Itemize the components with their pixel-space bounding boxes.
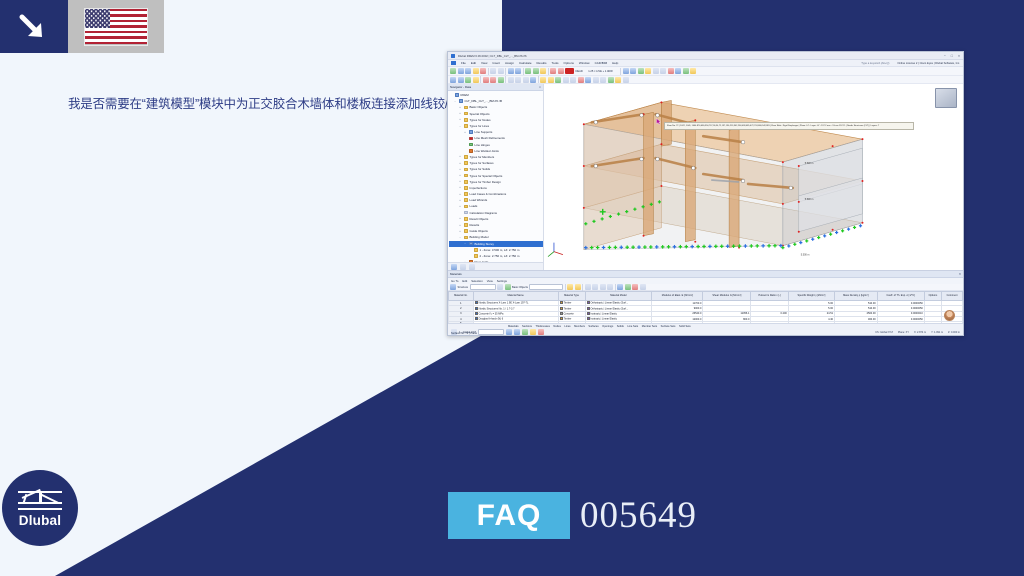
- surface-tool-icon[interactable]: [473, 77, 479, 83]
- menu-help[interactable]: Help: [612, 61, 618, 65]
- grid-icon[interactable]: [515, 68, 521, 74]
- panel-close-icon[interactable]: ✕: [539, 86, 541, 89]
- materials-column-header: Shear Modulus G [N/mm²]: [703, 292, 751, 301]
- building-tool-icon[interactable]: [585, 77, 591, 83]
- table-view-1-icon[interactable]: [585, 284, 591, 290]
- solid-tool-icon[interactable]: [578, 77, 584, 83]
- rotate-tool-icon[interactable]: [523, 77, 529, 83]
- tree-item-label: 2 - Zone: 2.750 m, LZ: 2.750 m: [480, 254, 520, 258]
- line-tool-icon[interactable]: [458, 77, 464, 83]
- menu-window[interactable]: Window: [579, 61, 590, 65]
- color-swatch: [587, 307, 590, 310]
- hinge-tool-icon[interactable]: [490, 77, 496, 83]
- blue-item-icon: [469, 242, 474, 246]
- materials-menu-edit[interactable]: Edit: [462, 279, 467, 283]
- open-icon[interactable]: [458, 68, 464, 74]
- copy-tool-icon[interactable]: [508, 77, 514, 83]
- tree-item-label: Types for Timber Design: [470, 180, 501, 184]
- folder-icon: [464, 155, 469, 159]
- svg-text:5.500 m: 5.500 m: [805, 162, 814, 165]
- redo-icon[interactable]: [498, 68, 504, 74]
- green-item-icon: [469, 143, 474, 147]
- window-buttons: − □ ×: [944, 54, 960, 58]
- object-tab[interactable]: Lines: [564, 325, 570, 328]
- object-tab[interactable]: Line Sets: [627, 325, 638, 328]
- tree-expander-icon[interactable]: −: [458, 125, 462, 128]
- red-item-icon: [469, 137, 474, 141]
- folder-icon: [464, 205, 469, 209]
- material-tool-icon[interactable]: [555, 77, 561, 83]
- window-title: Dlubal RFEM 6.06.0002 | CLT_DBL_CLT_..._…: [458, 54, 527, 58]
- new-icon[interactable]: [450, 68, 456, 74]
- menu-tools[interactable]: Tools: [552, 61, 559, 65]
- render-icon[interactable]: [525, 68, 531, 74]
- tree-item-label: Line Welded Joints: [475, 149, 499, 153]
- maximize-icon[interactable]: □: [951, 54, 953, 58]
- color-swatch: [587, 317, 590, 320]
- model-3d-view[interactable]: 5.500 m 5.500 m 5.500 m Floor No. 72 | 1…: [544, 84, 963, 270]
- table-view-3-icon[interactable]: [600, 284, 606, 290]
- folder-icon: [464, 236, 469, 240]
- rotate-icon[interactable]: [638, 68, 644, 74]
- array-tool-icon[interactable]: [530, 77, 536, 83]
- object-tab[interactable]: Surface Sets: [661, 325, 676, 328]
- navigator-title: Navigator - Data: [450, 85, 471, 89]
- folder-icon: [464, 198, 469, 202]
- tree-item-label: Building Storey: [475, 242, 494, 246]
- object-tab[interactable]: Member Sets: [642, 325, 657, 328]
- navigator-footer-tabs: [448, 262, 543, 270]
- menu-cadbim[interactable]: CAD/BIM: [595, 61, 608, 65]
- beam-tool-icon[interactable]: [615, 77, 621, 83]
- menu-file[interactable]: File: [461, 61, 466, 65]
- materials-column-header: Modulus of Elast. E [N/mm²]: [652, 292, 703, 301]
- folder-icon: [474, 248, 479, 252]
- folder-icon: [464, 180, 469, 184]
- materials-column-header: Material No.: [449, 292, 474, 301]
- materials-column-header: Material Type: [558, 292, 585, 301]
- materials-table-header: Material No.Material NameMaterial TypeMa…: [449, 292, 963, 301]
- table-export-icon[interactable]: [617, 284, 623, 290]
- object-tab[interactable]: Surfaces: [588, 325, 598, 328]
- guide-toggle-icon[interactable]: [538, 329, 544, 335]
- tree-expander-icon[interactable]: +: [458, 230, 462, 233]
- table-import-icon[interactable]: [625, 284, 631, 290]
- avatar[interactable]: [944, 310, 955, 321]
- tree-expander-icon[interactable]: +: [458, 155, 462, 158]
- tree-expander-icon[interactable]: +: [463, 131, 467, 134]
- title-bar: Dlubal RFEM 6.06.0002 | CLT_DBL_CLT_..._…: [448, 52, 963, 60]
- folder-icon: [464, 174, 469, 178]
- page-title: 我是否需要在“建筑模型”模块中为正交胶合木墙体和楼板连接添加线铰/绞释放?: [68, 95, 438, 113]
- license-status: Online License 2 | Cisco Eyes | Dlubal S…: [897, 62, 960, 65]
- color-swatch: [560, 317, 563, 320]
- tree-expander-icon[interactable]: +: [458, 193, 462, 196]
- tree-item-label: Types for Special Objects: [470, 174, 503, 178]
- color-swatch: [587, 301, 590, 304]
- shade-icon[interactable]: [540, 68, 546, 74]
- layers-icon[interactable]: [675, 68, 681, 74]
- materials-menu-goto[interactable]: Go To: [451, 279, 458, 283]
- object-tab[interactable]: Thicknesses: [535, 325, 549, 328]
- tab-views-icon[interactable]: [469, 264, 475, 270]
- truss-icon: [18, 489, 62, 511]
- toolbar-primary: DEAD 1.25 × LIVE + 1.4DW: [448, 67, 963, 76]
- color-swatch: [475, 301, 478, 304]
- tree-item-label: Types for Members: [470, 155, 495, 159]
- materials-column-header: Poisson's Ratio ν [-]: [751, 292, 788, 301]
- color-swatch: [475, 317, 478, 320]
- tree-expander-icon[interactable]: −: [458, 236, 462, 239]
- status-z: Z: 0.000 m: [948, 331, 960, 334]
- osnap-toggle-icon[interactable]: [530, 329, 536, 335]
- materials-column-header: Mass Density ρ [kg/m³]: [835, 292, 878, 301]
- tree-expander-icon[interactable]: +: [458, 180, 462, 183]
- basic-objects-icon[interactable]: [505, 284, 511, 290]
- tree-item-label: Line Mesh Refinements: [475, 136, 505, 140]
- materials-title: Materials: [450, 272, 462, 276]
- navigator-tree[interactable]: RFEM − CLT_DBL_CLT_..._BM.rf6.rf6 +Basic…: [448, 91, 543, 262]
- tree-item-label: 1 - Zone: 3.500 m, LZ: 2.750 m: [480, 248, 520, 252]
- materials-header: Materials ✕: [448, 271, 963, 278]
- tree-item-label: Types for Lines: [470, 124, 490, 128]
- table-icon[interactable]: [508, 68, 514, 74]
- folder-icon: [464, 223, 469, 227]
- model-tooltip: Floor No. 72 | 1022, 1041, 1064.876,680,…: [664, 122, 914, 130]
- materials-column-header: Material Model: [585, 292, 652, 301]
- status-cs: CS: Global XYZ: [875, 331, 893, 334]
- materials-menu-view[interactable]: View: [487, 279, 493, 283]
- structure-filter-value[interactable]: Structure: [458, 286, 469, 289]
- save-icon[interactable]: [465, 68, 471, 74]
- object-tab[interactable]: Openings: [602, 325, 613, 328]
- tree-item-label: Result Objects: [470, 217, 489, 221]
- folder-icon: [464, 192, 469, 196]
- menu-assign[interactable]: Assign: [505, 61, 514, 65]
- brand-name: Dlubal: [19, 513, 61, 528]
- undo-icon[interactable]: [490, 68, 496, 74]
- faq-badge: FAQ: [448, 492, 570, 539]
- arrow-down-right-icon: [18, 13, 48, 41]
- zoom-icon[interactable]: [623, 68, 629, 74]
- clt-building-model: 5.500 m 5.500 m 5.500 m: [544, 84, 963, 270]
- faq-number: 005649: [580, 492, 697, 539]
- member-tool-icon[interactable]: [465, 77, 471, 83]
- folder-icon: [464, 124, 469, 128]
- navigator-header: Navigator - Data ✕: [448, 84, 543, 91]
- tree-item-label: Load Wizards: [470, 198, 488, 202]
- tree-item-label: Basic Objects: [470, 105, 488, 109]
- load-tool-icon[interactable]: [498, 77, 504, 83]
- tree-expander-icon[interactable]: +: [458, 106, 462, 109]
- export-icon[interactable]: [480, 68, 486, 74]
- menu-options[interactable]: Options: [564, 61, 574, 65]
- materials-menu-selection[interactable]: Selection: [471, 279, 483, 283]
- menu-view[interactable]: View: [481, 61, 487, 65]
- section-tool-icon[interactable]: [548, 77, 554, 83]
- tree-model-label: CLT_DBL_CLT_..._BM.rf6.rf6: [465, 99, 503, 103]
- structure-icon[interactable]: [450, 284, 456, 290]
- tree-expander-icon[interactable]: +: [458, 217, 462, 220]
- status-plane: Plane: XY: [898, 331, 909, 334]
- rfem-application-window: Dlubal RFEM 6.06.0002 | CLT_DBL_CLT_..._…: [447, 51, 964, 336]
- tree-expander-icon[interactable]: +: [458, 112, 462, 115]
- status-selection-text: Surface No. 72 | Plane: [451, 332, 477, 335]
- tree-expander-icon[interactable]: +: [458, 224, 462, 227]
- folder-icon: [464, 168, 469, 172]
- close-icon[interactable]: ×: [958, 54, 960, 58]
- table-view-4-icon[interactable]: [607, 284, 613, 290]
- color-swatch: [475, 312, 478, 315]
- us-flag-icon: [85, 9, 147, 45]
- folder-icon: [464, 217, 469, 221]
- snap-icon[interactable]: [645, 68, 651, 74]
- calculate-icon[interactable]: [550, 68, 556, 74]
- opening-tool-icon[interactable]: [570, 77, 576, 83]
- loadcase-indicator: [565, 68, 574, 74]
- support-tool-icon[interactable]: [483, 77, 489, 83]
- minimize-icon[interactable]: −: [944, 54, 946, 58]
- grey-item-icon: [464, 211, 469, 215]
- menu-bar: File Edit View Insert Assign Calculate R…: [448, 60, 963, 67]
- folder-icon: [464, 161, 469, 165]
- table-print-icon[interactable]: [632, 284, 638, 290]
- measure-icon[interactable]: [653, 68, 659, 74]
- folder-icon: [464, 186, 469, 190]
- thickness-tool-icon[interactable]: [563, 77, 569, 83]
- tree-item-label: Types for Solids: [470, 167, 491, 171]
- materials-column-header: Material Name: [473, 292, 558, 301]
- coordinate-system-combo[interactable]: [478, 329, 504, 335]
- object-tab[interactable]: Sections: [522, 325, 532, 328]
- materials-close-icon[interactable]: ✕: [959, 272, 961, 276]
- ortho-toggle-icon[interactable]: [522, 329, 528, 335]
- app-icon: [451, 54, 455, 58]
- view-cube-icon[interactable]: [935, 88, 957, 108]
- dlubal-logo: Dlubal: [2, 470, 78, 546]
- object-tab[interactable]: Nodes: [553, 325, 561, 328]
- folder-icon: [464, 229, 469, 233]
- mesh-tool-icon[interactable]: [540, 77, 546, 83]
- pan-icon[interactable]: [630, 68, 636, 74]
- tree-item-label: Special Objects: [470, 112, 490, 116]
- table-delete-row-icon[interactable]: [575, 284, 581, 290]
- svg-text:5.500 m: 5.500 m: [805, 198, 814, 201]
- color-swatch: [587, 312, 590, 315]
- status-x: X: 2.874 m: [914, 331, 926, 334]
- tree-expander-icon[interactable]: +: [458, 162, 462, 165]
- delete-tool-icon[interactable]: [623, 77, 629, 83]
- status-row: 1 - Global XYZ CS: Global XYZ Plane: XY …: [448, 329, 963, 335]
- node-tool-icon[interactable]: [450, 77, 456, 83]
- materials-toolbar: Structure Basic Objects: [448, 284, 963, 291]
- folder-icon: [464, 112, 469, 116]
- tree-item-label: Results: [470, 223, 480, 227]
- materials-column-header: Coeff. of Th. Exp. α [1/°C]: [877, 292, 924, 301]
- snap-toggle-icon[interactable]: [506, 329, 512, 335]
- tree-item-label: Line Supports: [475, 130, 493, 134]
- tree-item-label: Loads: [470, 204, 478, 208]
- materials-column-header: Specific Weight γ [kN/m³]: [788, 292, 834, 301]
- object-tab[interactable]: Solids: [617, 325, 624, 328]
- load-combination-value: 1.25 × LIVE + 1.4DW: [588, 70, 613, 73]
- folder-icon: [474, 254, 479, 258]
- tree-item-label: Load Cases & Combinations: [470, 192, 507, 196]
- svg-text:5.500 m: 5.500 m: [801, 254, 810, 257]
- blue-item-icon: [469, 130, 474, 134]
- tree-expander-icon[interactable]: +: [458, 174, 462, 177]
- tree-expander-icon[interactable]: +: [458, 199, 462, 202]
- tree-expander-icon[interactable]: +: [458, 168, 462, 171]
- table-view-2-icon[interactable]: [592, 284, 598, 290]
- dimension-icon[interactable]: [660, 68, 666, 74]
- navigator-panel: Navigator - Data ✕ RFEM − CLT_DBL_CLT_..…: [448, 84, 544, 270]
- wireframe-icon[interactable]: [533, 68, 539, 74]
- results-icon[interactable]: [558, 68, 564, 74]
- tree-expander-icon[interactable]: +: [458, 205, 462, 208]
- table-new-row-icon[interactable]: [567, 284, 573, 290]
- tab-data-icon[interactable]: [451, 264, 457, 270]
- materials-column-header: Options: [924, 292, 941, 301]
- color-swatch: [475, 307, 478, 310]
- mirror-tool-icon[interactable]: [515, 77, 521, 83]
- menu-results[interactable]: Results: [537, 61, 547, 65]
- tree-item-label: Guide Objects: [470, 229, 488, 233]
- tree-item-label: Line Hinges: [475, 143, 490, 147]
- print-icon[interactable]: [473, 68, 479, 74]
- tree-expander-icon[interactable]: +: [458, 186, 462, 189]
- tree-item-label: Imperfections: [470, 186, 487, 190]
- tree-item-label: Calculation Diagrams: [470, 211, 497, 215]
- visibility-icon[interactable]: [668, 68, 674, 74]
- tree-item-label: Types for Nodes: [470, 118, 491, 122]
- structure-filter-combo[interactable]: [470, 284, 496, 290]
- object-tab[interactable]: Solid Sets: [679, 325, 691, 328]
- mouse-cursor-icon: [656, 118, 661, 125]
- faq-badge-label: FAQ: [477, 499, 542, 533]
- settings-icon[interactable]: [690, 68, 696, 74]
- floor-tool-icon[interactable]: [600, 77, 606, 83]
- object-filter-value[interactable]: Basic Objects: [512, 286, 528, 289]
- us-flag-badge: [68, 0, 164, 53]
- grid-toggle-icon[interactable]: [514, 329, 520, 335]
- color-swatch: [560, 301, 563, 304]
- status-bar: MaterialsSectionsThicknessesNodesLinesMe…: [448, 323, 963, 335]
- arrow-badge: [0, 0, 68, 53]
- object-filter-combo[interactable]: [529, 284, 563, 290]
- axis-triad-icon: [548, 243, 563, 257]
- menu-calculate[interactable]: Calculate: [519, 61, 532, 65]
- tree-expander-icon[interactable]: +: [458, 118, 462, 121]
- load-combination-label: DEAD: [576, 70, 583, 73]
- table-settings-icon[interactable]: [640, 284, 646, 290]
- tree-expander-icon[interactable]: −: [463, 242, 467, 245]
- menu-edit[interactable]: Edit: [471, 61, 476, 65]
- filter-prev-icon[interactable]: [497, 284, 503, 290]
- orange-item-icon: [469, 149, 474, 153]
- object-tab[interactable]: Members: [574, 325, 585, 328]
- menu-app-icon[interactable]: [451, 61, 456, 65]
- folder-icon: [464, 118, 469, 122]
- tree-root-label: RFEM: [461, 93, 469, 97]
- tree-item-label: Building Model: [470, 235, 489, 239]
- folder-icon: [464, 106, 469, 110]
- color-swatch: [560, 307, 563, 310]
- workspace: Navigator - Data ✕ RFEM − CLT_DBL_CLT_..…: [448, 84, 963, 270]
- object-tab[interactable]: Materials: [508, 325, 519, 328]
- materials-column-header: Comment: [942, 292, 963, 301]
- tab-display-icon[interactable]: [460, 264, 466, 270]
- wall-tool-icon[interactable]: [608, 77, 614, 83]
- toolbar-secondary: [448, 76, 963, 84]
- tree-item-label: Types for Surfaces: [470, 161, 494, 165]
- menu-insert[interactable]: Insert: [492, 61, 500, 65]
- keyword-search-input[interactable]: Type a keyword (Alt+Q): [861, 62, 889, 65]
- color-swatch: [560, 312, 563, 315]
- filter-icon[interactable]: [683, 68, 689, 74]
- status-y: Y: 1.091 m: [931, 331, 943, 334]
- materials-menu-settings[interactable]: Settings: [497, 279, 507, 283]
- storey-tool-icon[interactable]: [593, 77, 599, 83]
